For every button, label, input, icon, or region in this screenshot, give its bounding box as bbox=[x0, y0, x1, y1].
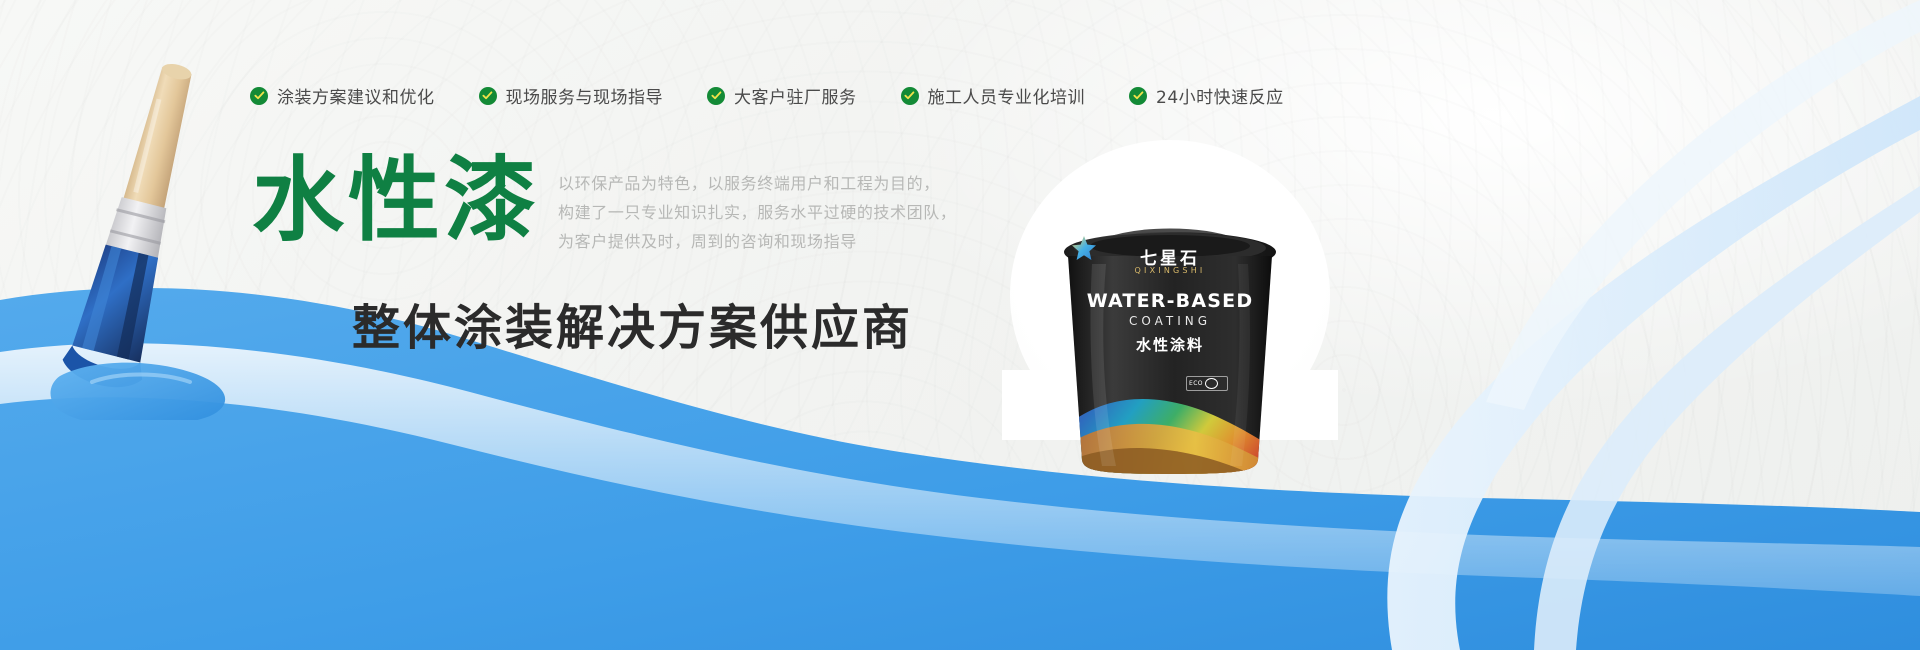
description-line-1: 以环保产品为特色，以服务终端用户和工程为目的， bbox=[558, 169, 956, 198]
headline-block: 水性漆 以环保产品为特色，以服务终端用户和工程为目的， 构建了一只专业知识扎实，… bbox=[252, 155, 956, 256]
check-circle-icon bbox=[901, 87, 919, 105]
check-circle-icon bbox=[707, 87, 725, 105]
product-name-en-sub: COATING bbox=[1010, 314, 1330, 328]
product-name-cn: 水性涂料 bbox=[1010, 334, 1330, 355]
description-text: 以环保产品为特色，以服务终端用户和工程为目的， 构建了一只专业知识扎实，服务水平… bbox=[558, 169, 956, 256]
feature-list: 涂装方案建议和优化 现场服务与现场指导 大客户驻厂服务 施工人员专业化培训 24 bbox=[250, 83, 1284, 108]
check-circle-icon bbox=[1129, 87, 1147, 105]
product-brand-en: QIXINGSHI bbox=[1010, 266, 1330, 275]
description-line-3: 为客户提供及时，周到的咨询和现场指导 bbox=[558, 227, 956, 256]
feature-item[interactable]: 涂装方案建议和优化 bbox=[250, 83, 435, 108]
product-image: 七星石 QIXINGSHI WATER-BASED COATING 水性涂料 E… bbox=[1010, 140, 1330, 450]
eco-badge: ECO bbox=[1186, 376, 1228, 391]
check-circle-icon bbox=[250, 87, 268, 105]
feature-item[interactable]: 现场服务与现场指导 bbox=[479, 83, 664, 108]
feature-label: 24小时快速反应 bbox=[1156, 83, 1284, 108]
product-name-en: WATER-BASED bbox=[1010, 290, 1330, 312]
hero-banner: 涂装方案建议和优化 现场服务与现场指导 大客户驻厂服务 施工人员专业化培训 24 bbox=[0, 0, 1920, 650]
feature-label: 现场服务与现场指导 bbox=[506, 83, 664, 108]
page-title: 水性漆 bbox=[252, 155, 540, 247]
eco-badge-label: ECO bbox=[1189, 380, 1203, 387]
feature-label: 大客户驻厂服务 bbox=[734, 83, 857, 108]
feature-label: 施工人员专业化培训 bbox=[928, 83, 1086, 108]
eco-badge-dot bbox=[1205, 378, 1218, 389]
check-circle-icon bbox=[479, 87, 497, 105]
description-line-2: 构建了一只专业知识扎实，服务水平过硬的技术团队， bbox=[558, 198, 956, 227]
feature-item[interactable]: 大客户驻厂服务 bbox=[707, 83, 857, 108]
page-subtitle: 整体涂装解决方案供应商 bbox=[352, 288, 913, 358]
feature-item[interactable]: 24小时快速反应 bbox=[1129, 83, 1284, 108]
paint-brush-icon bbox=[50, 60, 240, 420]
feature-item[interactable]: 施工人员专业化培训 bbox=[901, 83, 1086, 108]
feature-label: 涂装方案建议和优化 bbox=[277, 83, 435, 108]
